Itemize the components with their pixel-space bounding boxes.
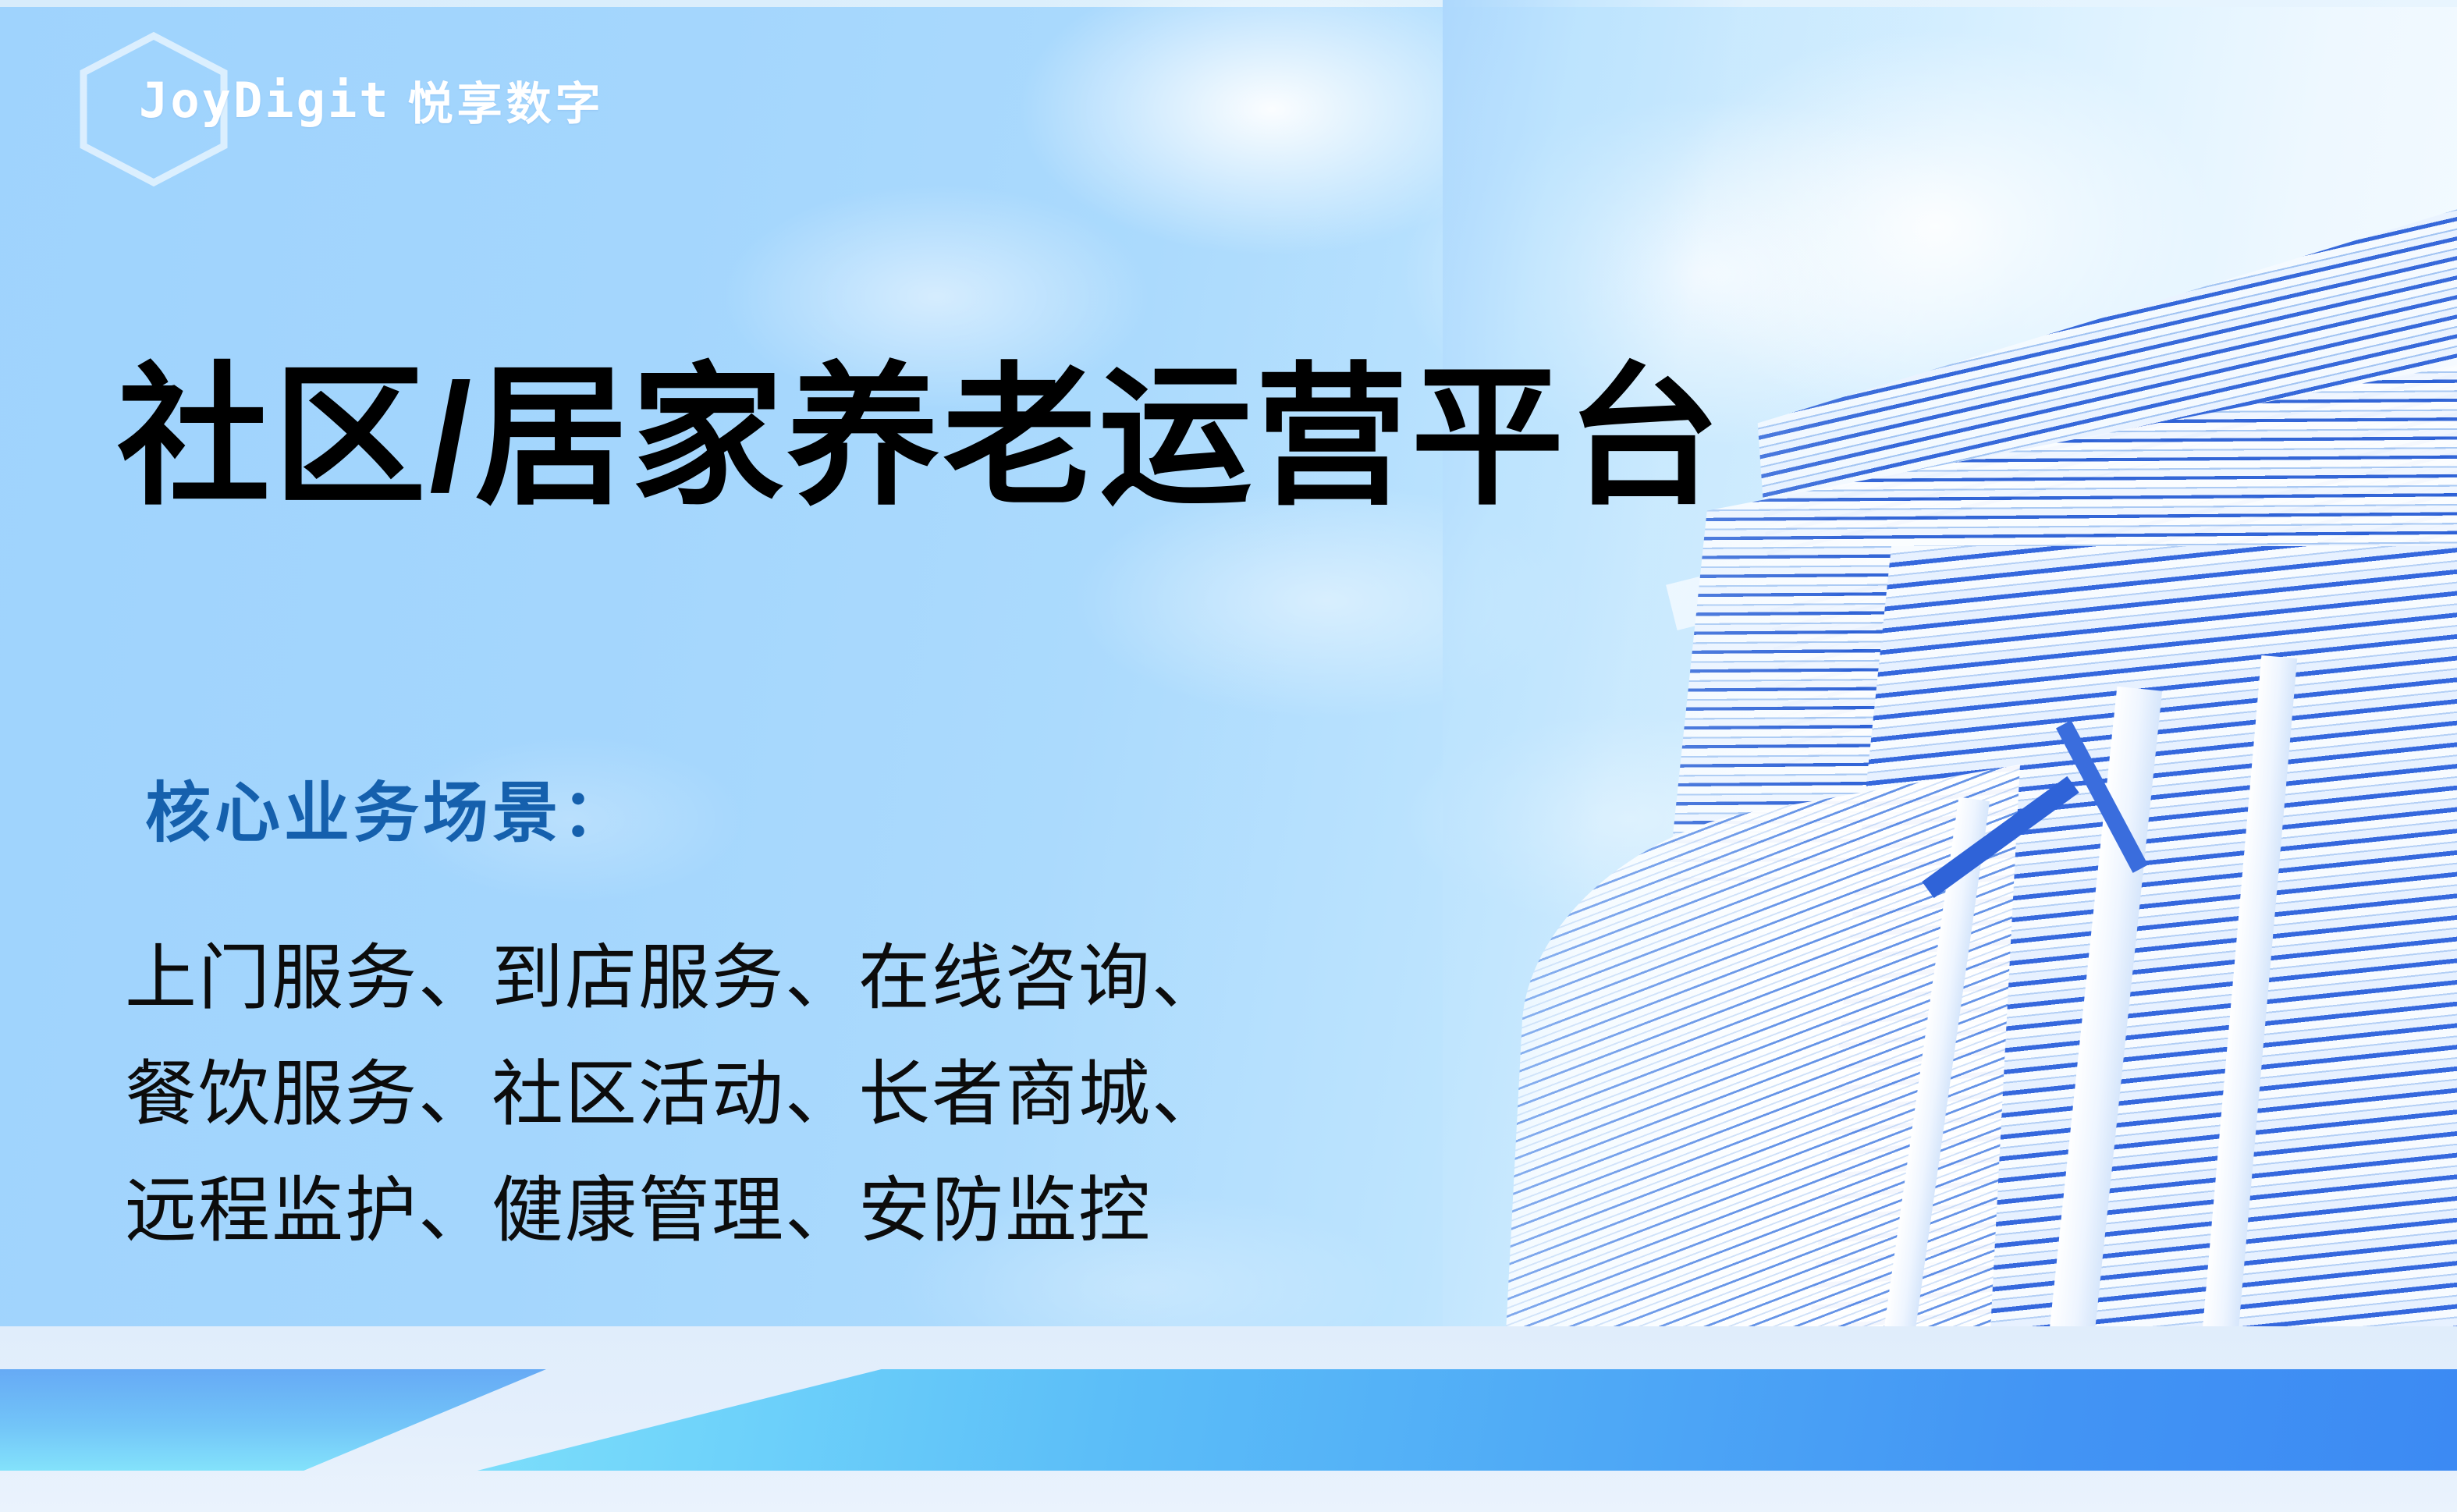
slide-canvas: JoyDigit 悦享数字 社区/居家养老运营平台 核心业务场景： 上门服务、到… [0,0,2457,1512]
logo-wordmark: JoyDigit [139,72,391,129]
top-edge-strip [0,0,2457,7]
scenario-line: 上门服务、到店服务、在线咨询、 [125,921,1225,1037]
bottom-decorative-band [0,1326,2457,1512]
logo-chinese-name: 悦享数字 [408,67,605,133]
section-subtitle: 核心业务场景： [145,761,631,855]
scenario-line: 餐饮服务、社区活动、长者商城、 [125,1037,1225,1153]
scenario-list: 上门服务、到店服务、在线咨询、 餐饮服务、社区活动、长者商城、 远程监护、健康管… [125,921,1225,1269]
page-title: 社区/居家养老运营平台 [117,352,1723,524]
sky-background [0,0,2457,1512]
scenario-line: 远程监护、健康管理、安防监控 [125,1153,1225,1269]
brand-logo[interactable]: JoyDigit 悦享数字 [139,67,605,133]
